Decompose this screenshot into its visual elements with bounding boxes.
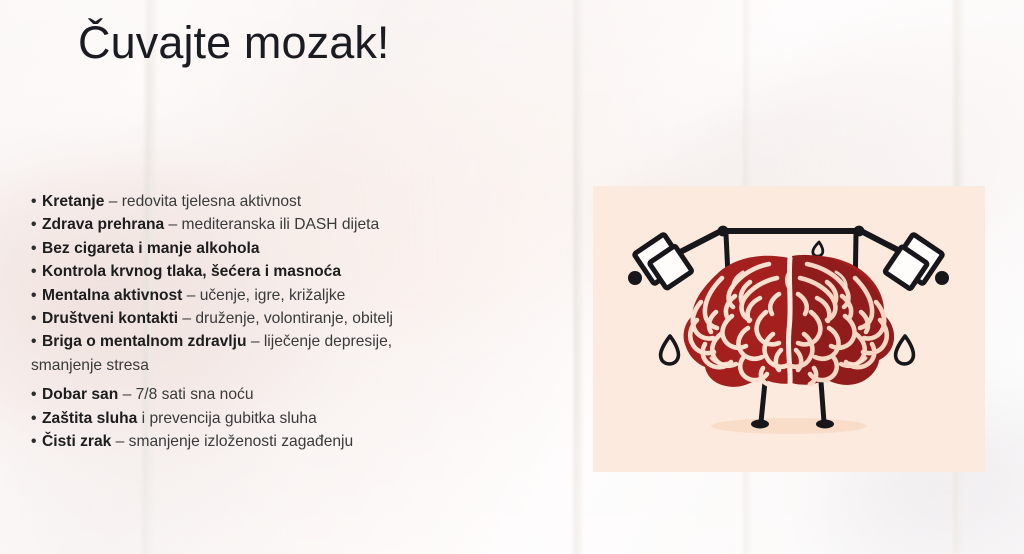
right-leg: [821, 382, 824, 422]
list-item-detail: – liječenje depresije,: [247, 333, 393, 350]
bullet-icon: •: [31, 407, 42, 430]
list-item: •Kontrola krvnog tlaka, šećera i masnoća: [31, 260, 561, 283]
list-item-detail: – mediteranska ili DASH dijeta: [164, 216, 379, 233]
brain-lifting-barbell-illustration: [593, 186, 985, 472]
list-item-label: Mentalna aktivnost: [42, 287, 182, 304]
list-item-detail: – druženje, volontiranje, obitelj: [178, 310, 393, 327]
list-item-label: Društveni kontakti: [42, 310, 178, 327]
list-item: •Čisti zrak – smanjenje izloženosti zaga…: [31, 430, 561, 453]
list-item-continuation: smanjenje stresa: [31, 354, 561, 377]
list-item-label: Kontrola krvnog tlaka, šećera i masnoća: [42, 263, 341, 280]
list-item-detail: – 7/8 sati sna noću: [118, 386, 253, 403]
bullet-icon: •: [31, 284, 42, 307]
list-item: •Mentalna aktivnost – učenje, igre, križ…: [31, 284, 561, 307]
illustration-svg: [593, 186, 985, 472]
bullet-icon: •: [31, 430, 42, 453]
list-item-detail: – učenje, igre, križaljke: [182, 287, 345, 304]
bullet-icon: •: [31, 330, 42, 353]
right-foot: [816, 420, 834, 429]
list-item-label: Zdrava prehrana: [42, 216, 164, 233]
bullet-icon: •: [31, 237, 42, 260]
list-item: •Kretanje – redovita tjelesna aktivnost: [31, 190, 561, 213]
list-item-label: Dobar san: [42, 386, 118, 403]
right-bar-end-cap: [935, 271, 949, 285]
list-item: •Društveni kontakti – druženje, volontir…: [31, 307, 561, 330]
list-item: •Zaštita sluha i prevencija gubitka sluh…: [31, 407, 561, 430]
left-bar-end-cap: [628, 271, 642, 285]
list-item: •Briga o mentalnom zdravlju – liječenje …: [31, 330, 561, 353]
list-item: •Zdrava prehrana – mediteranska ili DASH…: [31, 213, 561, 236]
list-item-detail: – redovita tjelesna aktivnost: [104, 193, 301, 210]
list-item-label: Čisti zrak: [42, 433, 111, 450]
list-item-label: Bez cigareta i manje alkohola: [42, 240, 260, 257]
bullet-icon: •: [31, 190, 42, 213]
page-title: Čuvajte mozak!: [78, 16, 390, 69]
ground-shadow: [711, 418, 867, 434]
list-item-label: Zaštita sluha: [42, 410, 137, 427]
list-item-label: Briga o mentalnom zdravlju: [42, 333, 247, 350]
list-item: •Dobar san – 7/8 sati sna noću: [31, 383, 561, 406]
list-item-label: Kretanje: [42, 193, 104, 210]
bullet-list: •Kretanje – redovita tjelesna aktivnost …: [31, 190, 561, 453]
bullet-icon: •: [31, 383, 42, 406]
slide: Čuvajte mozak! •Kretanje – redovita tjel…: [0, 0, 1024, 554]
left-foot: [751, 420, 769, 429]
bullet-icon: •: [31, 260, 42, 283]
bullet-icon: •: [31, 213, 42, 236]
list-item-detail: smanjenje stresa: [31, 357, 149, 374]
list-item-detail: i prevencija gubitka sluha: [137, 410, 316, 427]
bullet-icon: •: [31, 307, 42, 330]
list-item-detail: – smanjenje izloženosti zagađenju: [111, 433, 353, 450]
list-item: •Bez cigareta i manje alkohola: [31, 237, 561, 260]
